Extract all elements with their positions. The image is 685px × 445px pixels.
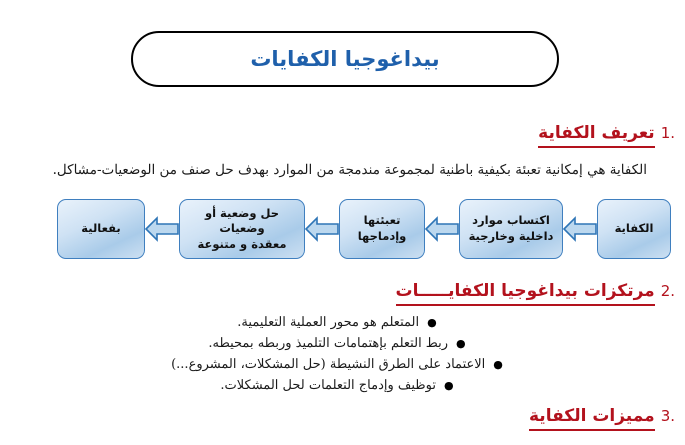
- title-banner: بيداغوجيا الكفايات: [131, 31, 559, 87]
- arrow-left-icon: [425, 214, 459, 244]
- flow-box-1-text: الكفاية: [615, 221, 654, 237]
- section-heading-1: 1. تعريف الكفاية: [538, 124, 675, 148]
- section-title-2: مرتكزات بيداغوجيا الكفايـــــات: [396, 282, 655, 306]
- flow-box-solve-situations: حل وضعية أو وضعيات معقدة و متنوعة: [179, 199, 305, 259]
- list-item: ●المتعلم هو محور العملية التعليمية.: [27, 312, 647, 333]
- section-number-2: 2.: [661, 282, 675, 300]
- flow-box-5-text: بفعالية: [81, 221, 120, 237]
- section-heading-3: 3. مميزات الكفاية: [529, 407, 675, 431]
- section-number-3: 3.: [661, 407, 675, 425]
- section-title-3: مميزات الكفاية: [529, 407, 655, 431]
- document-page: بيداغوجيا الكفايات 1. تعريف الكفاية الكف…: [0, 0, 685, 445]
- bullet-icon: ●: [444, 380, 454, 391]
- bullet-icon: ●: [493, 359, 503, 370]
- flow-box-mobilize-integrate: تعبئتها وإدماجها: [339, 199, 425, 259]
- flow-box-3-text: تعبئتها وإدماجها: [358, 213, 407, 244]
- flow-box-competency: الكفاية: [597, 199, 671, 259]
- list-item-label: توظيف وإدماج التعلمات لحل المشكلات.: [220, 378, 436, 393]
- bullet-icon: ●: [427, 317, 437, 328]
- list-item-label: ربط التعلم بإهتمامات التلميذ وربطه بمحيط…: [208, 336, 448, 351]
- list-item-label: المتعلم هو محور العملية التعليمية.: [237, 315, 419, 330]
- section-number-1: 1.: [661, 124, 675, 142]
- list-item: ●ربط التعلم بإهتمامات التلميذ وربطه بمحي…: [27, 333, 647, 354]
- bullet-icon: ●: [456, 338, 466, 349]
- principles-list: ●المتعلم هو محور العملية التعليمية. ●ربط…: [27, 312, 647, 396]
- list-item: ●توظيف وإدماج التعلمات لحل المشكلات.: [27, 375, 647, 396]
- competency-flowchart: الكفاية اكتساب موارد داخلية وخارجية تعبئ…: [0, 196, 685, 262]
- list-item: ●الاعتماد على الطرق النشيطة (حل المشكلات…: [27, 354, 647, 375]
- section-title-1: تعريف الكفاية: [538, 124, 655, 148]
- flow-box-2-text: اكتساب موارد داخلية وخارجية: [469, 213, 554, 244]
- page-title: بيداغوجيا الكفايات: [250, 47, 439, 71]
- flow-box-4-text: حل وضعية أو وضعيات معقدة و متنوعة: [185, 206, 299, 253]
- list-item-label: الاعتماد على الطرق النشيطة (حل المشكلات،…: [171, 357, 485, 372]
- flow-box-effectively: بفعالية: [57, 199, 145, 259]
- arrow-left-icon: [145, 214, 179, 244]
- definition-paragraph: الكفاية هي إمكانية تعبئة بكيفية باطنية ل…: [27, 160, 647, 180]
- arrow-left-icon: [563, 214, 597, 244]
- arrow-left-icon: [305, 214, 339, 244]
- section-heading-2: 2. مرتكزات بيداغوجيا الكفايـــــات: [396, 282, 675, 306]
- flow-box-acquire-resources: اكتساب موارد داخلية وخارجية: [459, 199, 563, 259]
